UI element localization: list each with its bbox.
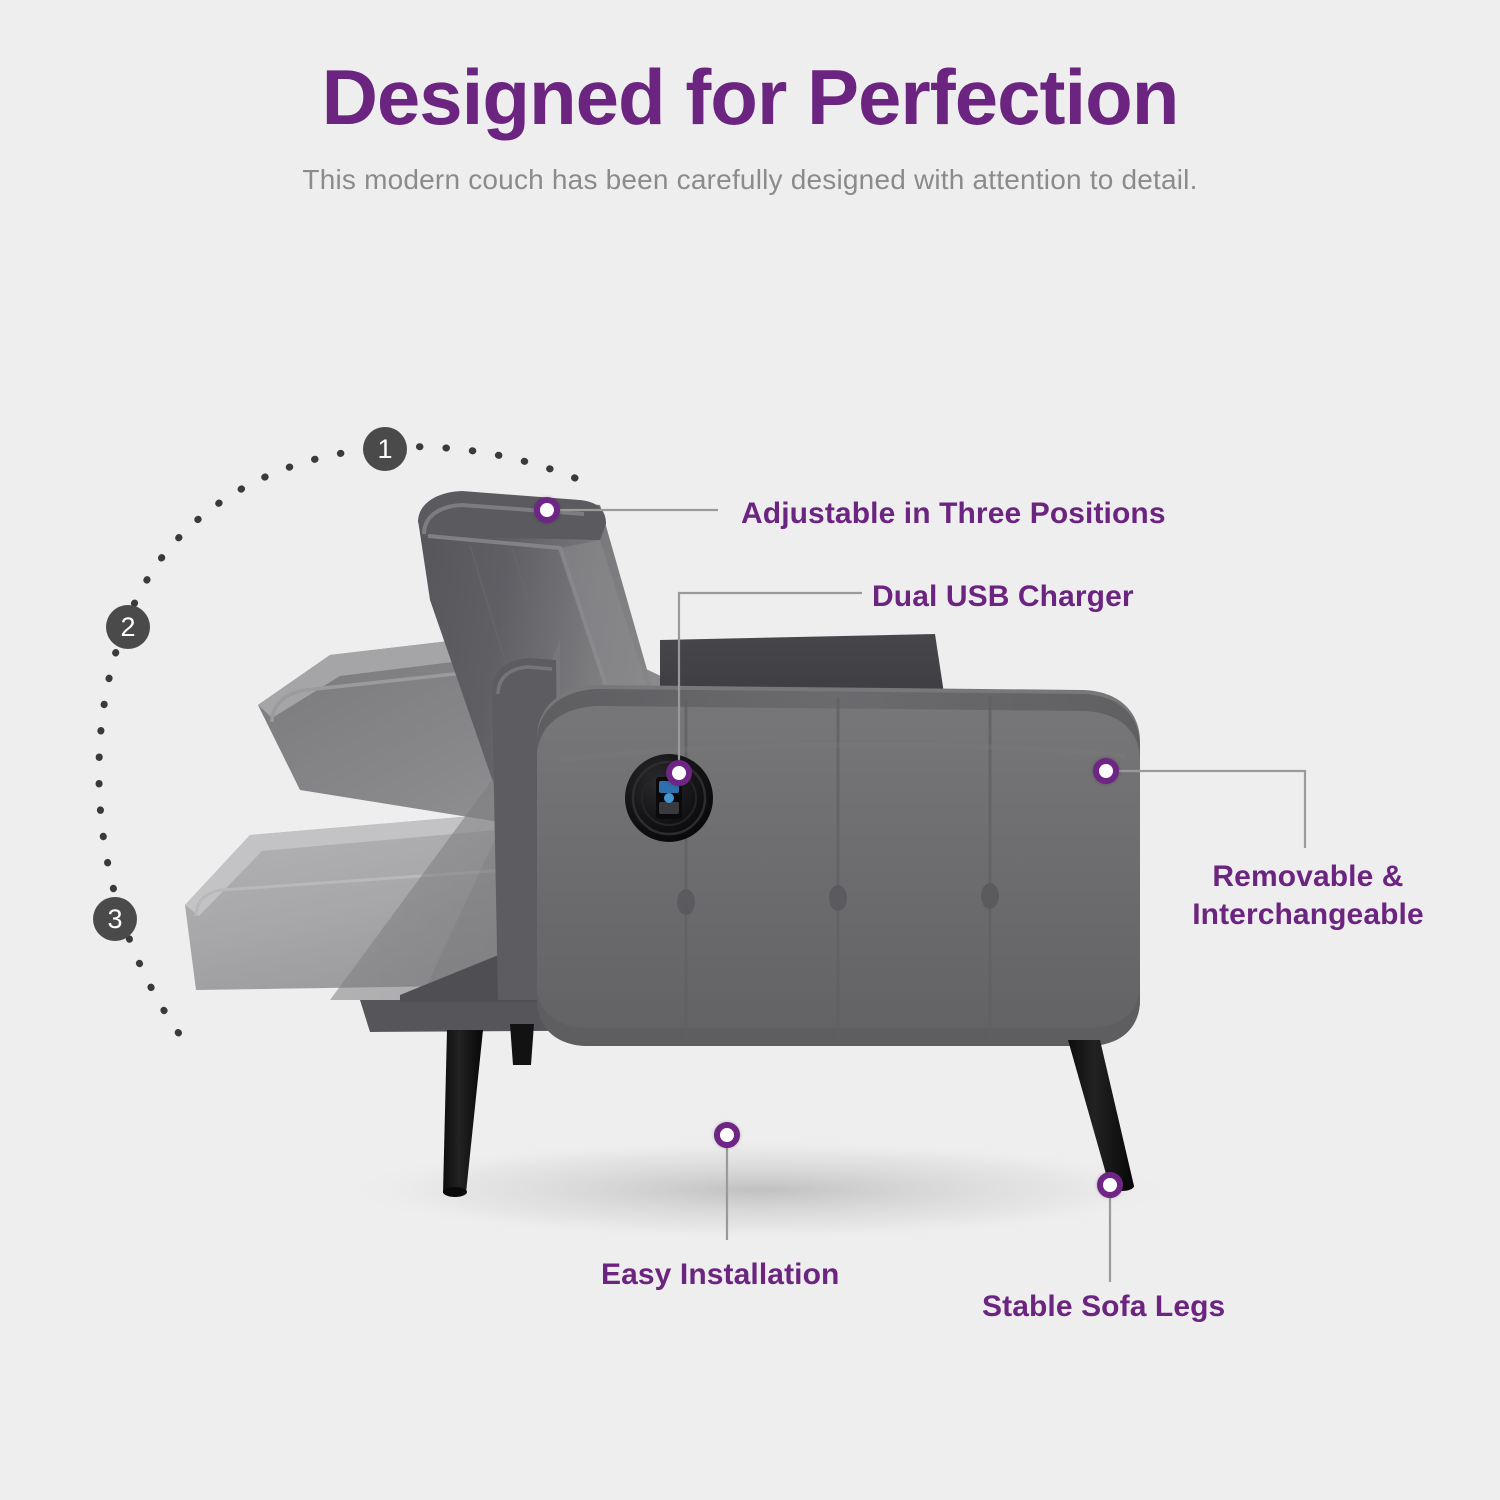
callout-label-adjustable: Adjustable in Three Positions — [741, 495, 1166, 533]
marker-adjustable[interactable] — [534, 497, 560, 523]
callout-label-easy-installation: Easy Installation — [601, 1256, 839, 1294]
callout-removable-line1: Removable & — [1158, 858, 1458, 896]
callout-label-removable-interchangeable: Removable & Interchangeable — [1158, 858, 1458, 935]
position-badge-2[interactable]: 2 — [106, 605, 150, 649]
position-badge-1-number: 1 — [377, 434, 392, 465]
position-badge-2-number: 2 — [120, 612, 135, 643]
position-badge-3-number: 3 — [107, 904, 122, 935]
infographic-canvas: Designed for Perfection This modern couc… — [0, 0, 1500, 1500]
marker-stable-sofa-legs[interactable] — [1097, 1172, 1123, 1198]
callout-label-dual-usb-charger: Dual USB Charger — [872, 578, 1134, 616]
front-arm-panel — [537, 685, 1140, 1046]
callout-label-stable-sofa-legs: Stable Sofa Legs — [982, 1288, 1225, 1326]
marker-easy-installation[interactable] — [714, 1122, 740, 1148]
position-badge-3[interactable]: 3 — [93, 897, 137, 941]
leader-removable — [1119, 771, 1305, 848]
position-badge-1[interactable]: 1 — [363, 427, 407, 471]
marker-removable[interactable] — [1093, 758, 1119, 784]
marker-usb-charger[interactable] — [666, 760, 692, 786]
callout-removable-line2: Interchangeable — [1158, 896, 1458, 934]
